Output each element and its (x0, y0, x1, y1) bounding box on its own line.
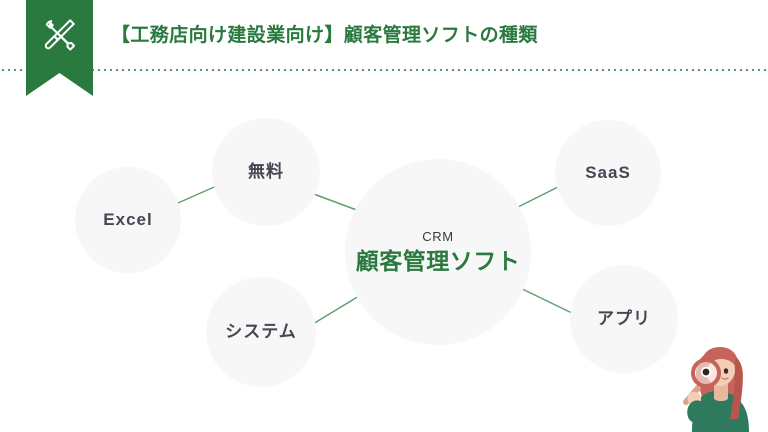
node-saas-label: SaaS (585, 163, 631, 183)
node-appli-label: アプリ (597, 309, 651, 329)
mind-map-diagram: Excel 無料 SaaS システム アプリ CRM 顧客管理ソフト (0, 0, 768, 432)
node-muryo-label: 無料 (248, 162, 284, 182)
node-center-crm[interactable]: CRM 顧客管理ソフト (345, 159, 531, 345)
node-system-label: システム (225, 322, 297, 342)
node-appli[interactable]: アプリ (570, 265, 678, 373)
neck (714, 384, 728, 401)
node-center-sublabel: CRM (422, 229, 453, 245)
node-muryo[interactable]: 無料 (212, 118, 320, 226)
edge-system-center (308, 293, 364, 327)
magnified-pupil (703, 369, 710, 376)
edge-center-appli (514, 285, 576, 315)
node-center-label: 顧客管理ソフト (356, 248, 521, 276)
node-excel[interactable]: Excel (75, 167, 181, 273)
node-system[interactable]: システム (206, 277, 316, 387)
eye (724, 368, 728, 374)
woman-with-magnifying-glass-illustration (678, 340, 768, 432)
node-saas[interactable]: SaaS (555, 120, 661, 226)
node-excel-label: Excel (103, 210, 152, 230)
